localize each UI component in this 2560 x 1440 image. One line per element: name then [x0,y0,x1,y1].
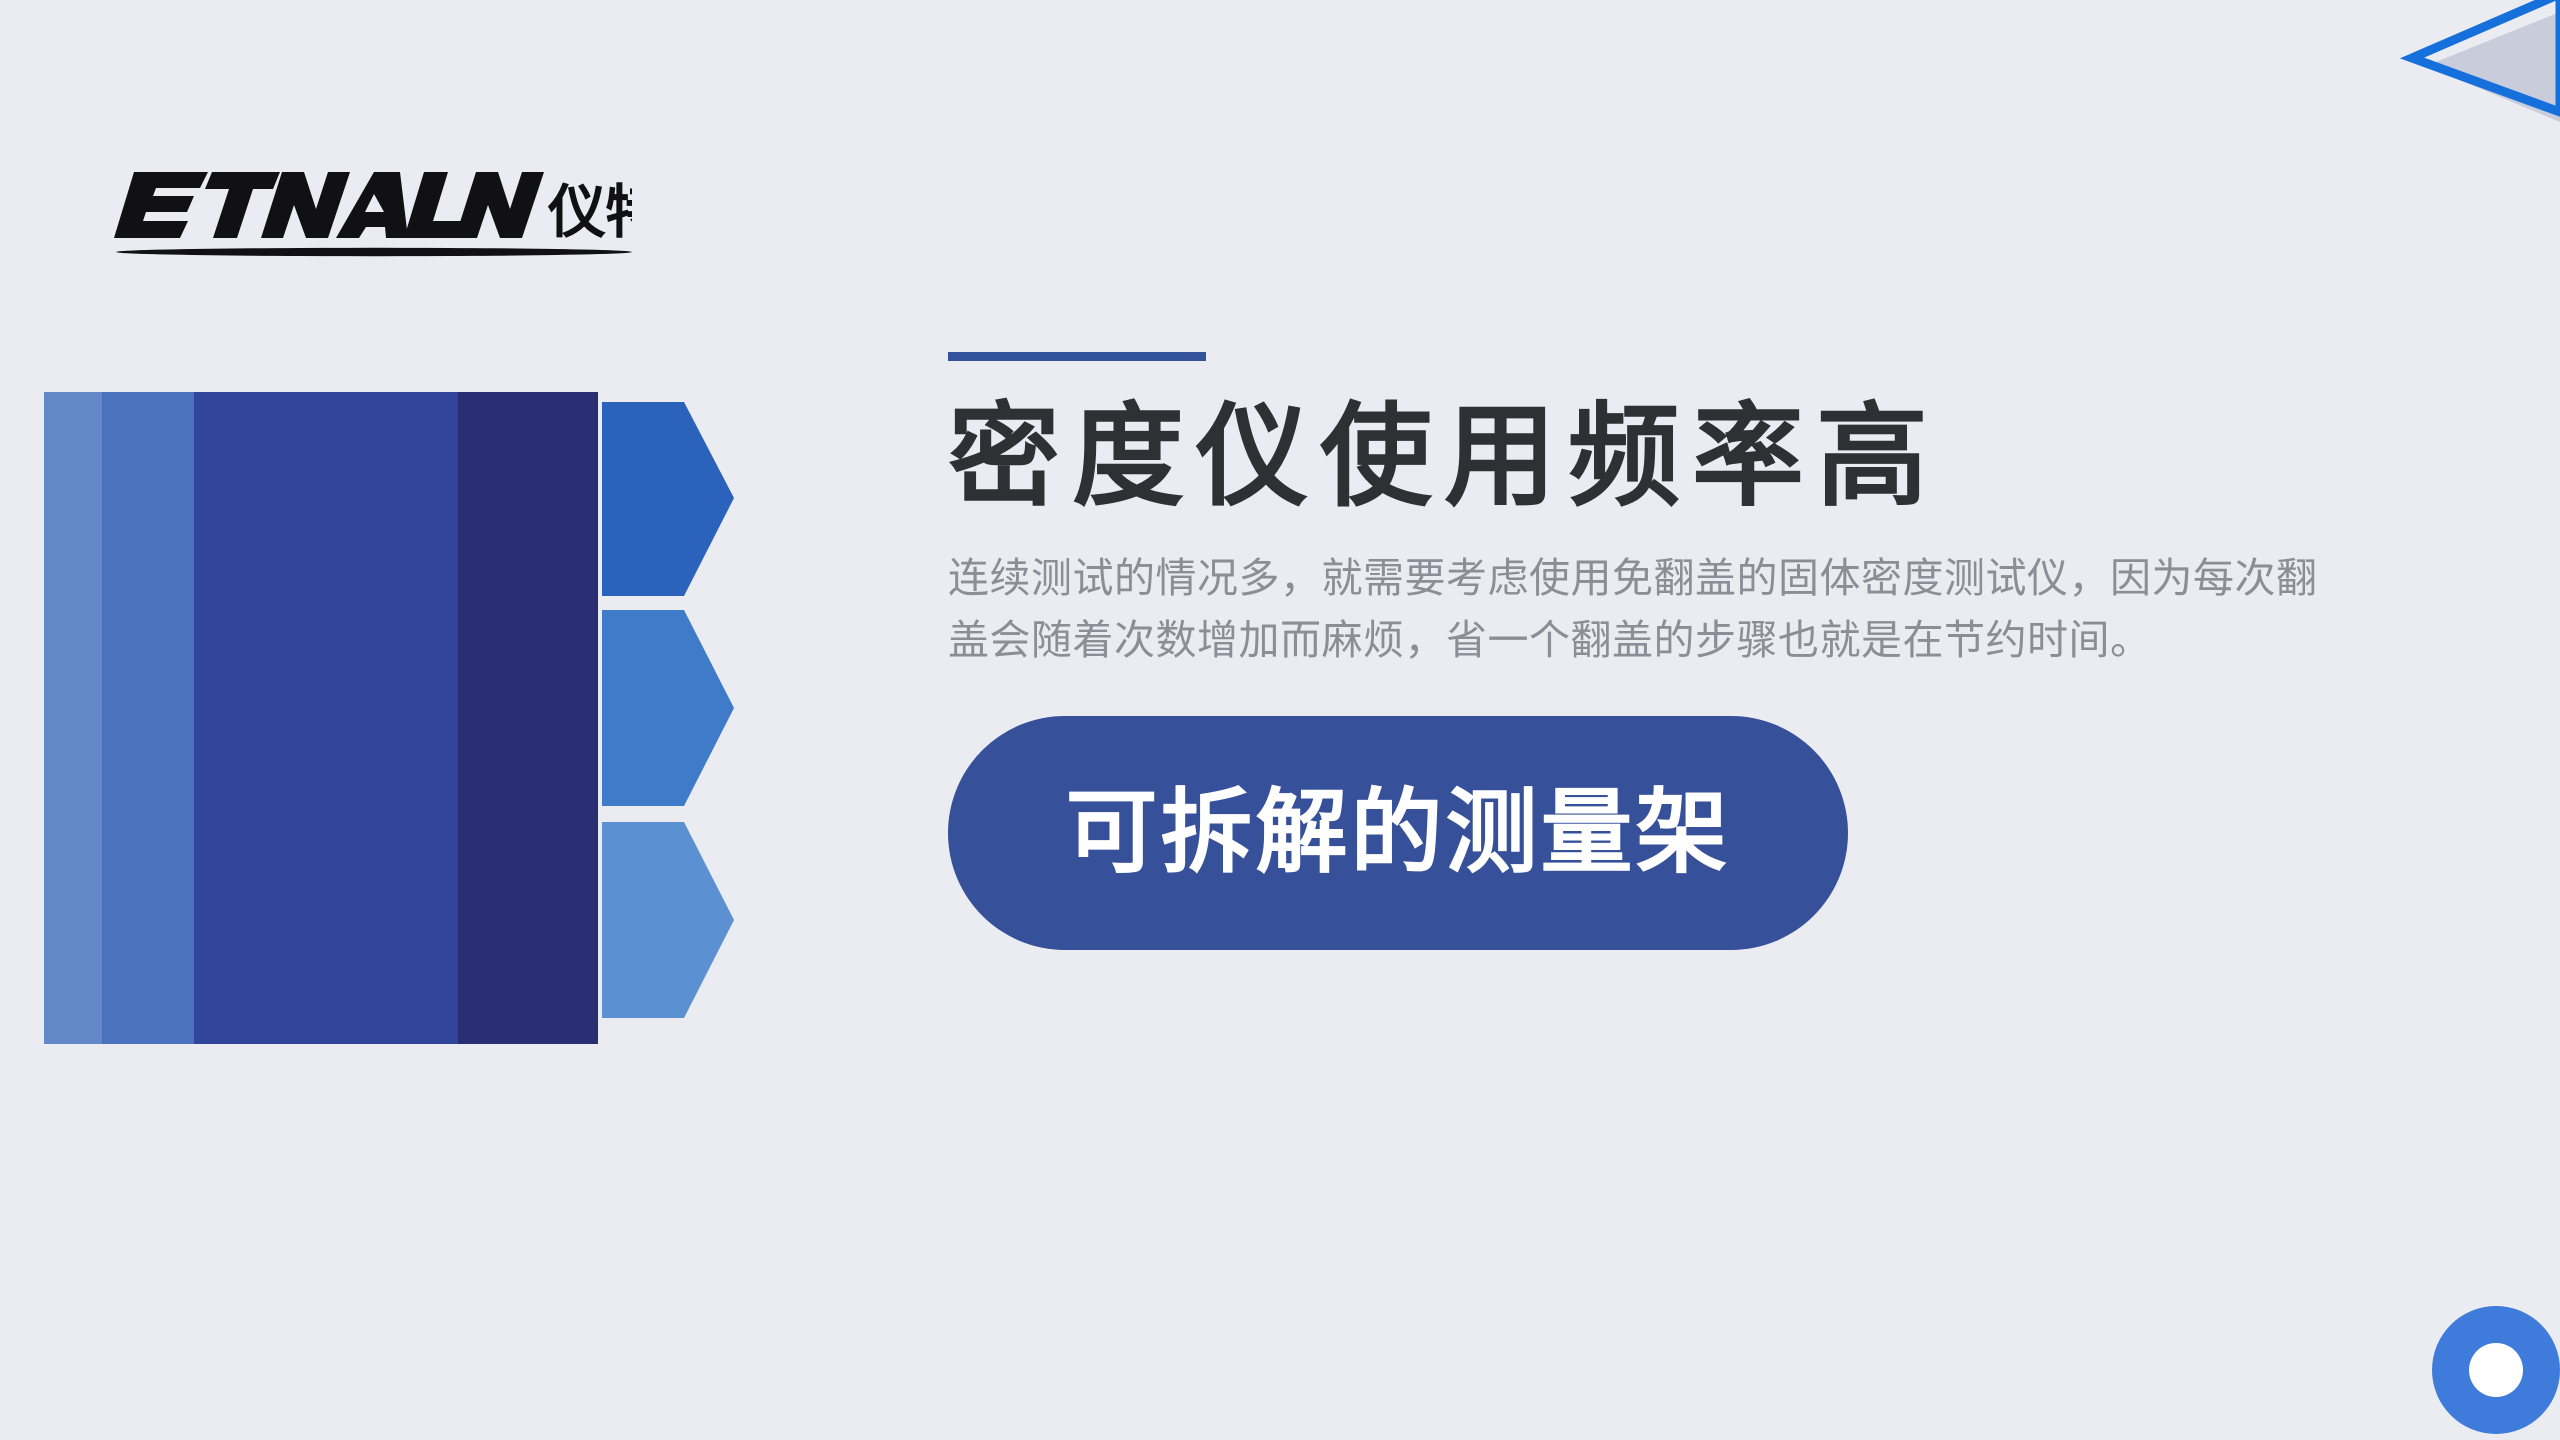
left-triangle-icon [2400,0,2560,122]
cta-button-label: 可拆解的测量架 [1065,787,1730,879]
blue-bands-chevrons-icon [44,392,734,1044]
donut-icon [2432,1306,2560,1434]
left-decorative-graphic [44,392,734,1044]
svg-text:仪特诺: 仪特诺 [547,178,632,246]
triangle-decoration [2400,0,2560,122]
chevron-2 [602,610,734,806]
brand-logo[interactable]: 仪特诺 ® [112,162,632,258]
donut-hole [2469,1343,2523,1397]
chevron-3 [602,822,734,1018]
ring-decoration [2432,1306,2560,1434]
accent-bar [948,352,1206,361]
banner-stage: 仪特诺 ® [0,0,2560,1440]
cta-button[interactable]: 可拆解的测量架 [948,716,1848,950]
chevron-1 [602,402,734,596]
page-title: 密度仪使用频率高 [948,401,2368,513]
body-paragraph: 连续测试的情况多，就需要考虑使用免翻盖的固体密度测试仪，因为每次翻盖会随着次数增… [948,547,2340,672]
brand-logo-mark: 仪特诺 ® [112,162,632,258]
content-column: 密度仪使用频率高 连续测试的情况多，就需要考虑使用免翻盖的固体密度测试仪，因为每… [948,352,2368,950]
